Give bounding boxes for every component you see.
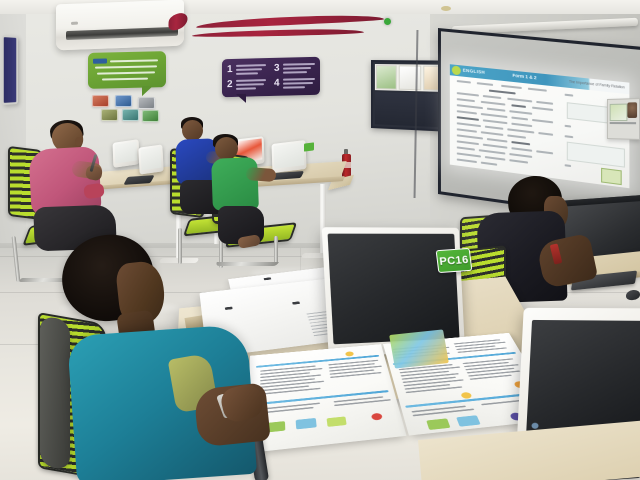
chair-lime-2-frame <box>178 228 182 264</box>
monitor-back-1 <box>113 139 140 168</box>
slide-footer-badge <box>601 168 622 185</box>
poster-logo-icon <box>93 58 107 63</box>
monitor-back-2 <box>138 144 163 174</box>
chair-lime-3-frame-right <box>274 236 278 264</box>
chair-lime-foreground-armrest[interactable] <box>40 315 70 470</box>
tile-grey-icon <box>138 97 155 109</box>
paper-clip-icon <box>225 307 233 310</box>
marker-chip-blue <box>296 418 317 429</box>
monitor-back-1-screen <box>115 142 138 164</box>
poster-icon-tile-row <box>92 95 154 119</box>
poster-number-4: 4 <box>274 79 280 89</box>
marker-dot-red <box>371 413 383 421</box>
poster-portrait-face <box>627 102 637 118</box>
person-student-blue-head <box>182 120 203 141</box>
maroon-wall-graphic <box>168 4 388 48</box>
air-conditioner-indicator <box>71 22 78 25</box>
classroom-photo-scene: 1 2 3 4 <box>0 0 640 480</box>
projected-slide: ENGLISH Form 1 & 2 The Importance of Fam… <box>450 64 630 188</box>
poster-photo <box>610 104 628 122</box>
tile-olive-icon <box>101 109 118 121</box>
poster-caption <box>610 122 636 124</box>
slide-text-column <box>453 78 562 177</box>
portrait-poster <box>607 98 640 140</box>
workbook-left-page <box>247 344 407 453</box>
slide-logo-icon <box>452 65 461 75</box>
tile-green-icon <box>142 110 159 122</box>
tile-teal-icon <box>122 109 139 121</box>
poster-number-1: 1 <box>227 65 233 75</box>
workbook-cover-art <box>389 329 449 368</box>
swoosh-head-icon <box>168 10 188 32</box>
notice-board-poster-area <box>375 64 446 92</box>
purple-bubble-tail-icon <box>236 94 246 103</box>
purple-numbered-poster: 1 2 3 4 <box>222 57 320 97</box>
monitor-back-4-screen <box>274 142 305 169</box>
monitor-back-2-screen <box>140 147 161 171</box>
air-conditioner <box>56 0 184 50</box>
notice-board-cork <box>375 92 446 127</box>
poster-green <box>376 65 397 90</box>
swoosh-stripe-upper <box>196 13 384 29</box>
tile-red-icon <box>92 95 109 107</box>
ceiling-sensor-light <box>384 18 391 25</box>
poster-number-2: 2 <box>227 80 233 90</box>
air-conditioner-vent <box>66 27 178 40</box>
marker-chip-green-2 <box>426 418 450 430</box>
paper-clip-icon <box>292 301 300 304</box>
swoosh-stripe-lower <box>192 28 364 38</box>
marker-chip-blue-2 <box>456 415 480 426</box>
person-student-green-shirt <box>211 157 259 211</box>
monitor-back-4 <box>272 140 307 173</box>
asset-tag-pc16-text: PC16 <box>439 254 470 268</box>
monitor-back-4-asset-tag <box>304 142 314 151</box>
paper-clip-icon <box>264 277 272 280</box>
marker-dot-yellow <box>345 351 354 356</box>
marker-chip-lime <box>327 416 347 427</box>
chair-lime-3-base <box>215 262 279 266</box>
ceiling-stain <box>441 6 451 11</box>
person-student-green-head <box>215 137 238 160</box>
slide-form-box-2 <box>567 142 625 168</box>
asset-tag-pc16: PC16 <box>436 248 473 273</box>
green-speech-bubble-poster <box>88 51 166 89</box>
person-instructor-ear <box>75 137 82 146</box>
tile-blue-icon <box>115 95 132 107</box>
poster-number-3: 3 <box>274 64 280 74</box>
navy-wall-sign <box>2 35 18 105</box>
person-student-green-arm <box>246 167 277 182</box>
